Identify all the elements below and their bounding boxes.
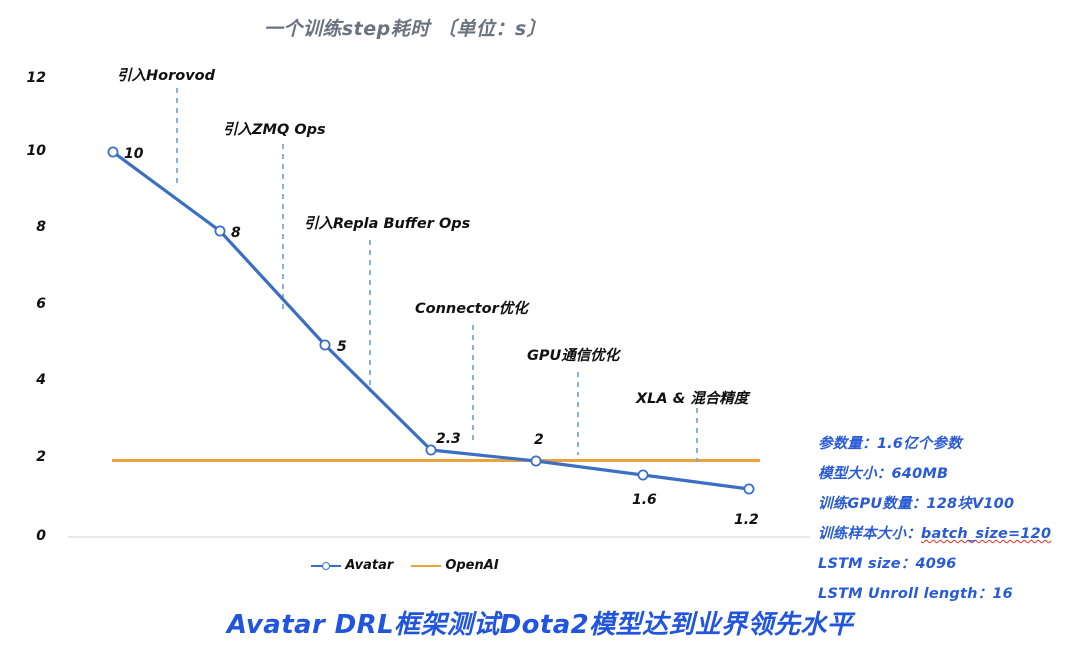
annotation-gpu-comm: GPU通信优化 (527, 344, 619, 365)
info-key-batch-size: 训练样本大小： (818, 526, 921, 542)
avatar-point-5 (638, 470, 647, 479)
annotation-connector: Connector优化 (415, 297, 528, 318)
info-line-gpu-count: 训练GPU数量：128块V100 (818, 492, 1074, 513)
info-line-batch-size: 训练样本大小：batch_size=120 (818, 522, 1074, 543)
legend-marker-openai-icon (411, 560, 441, 572)
avatar-point-4 (531, 456, 540, 465)
annotation-replay-buffer-ops: 引入Repla Buffer Ops (304, 212, 470, 233)
info-line-param-count: 参数量：1.6亿个参数 (818, 432, 1074, 453)
info-key-gpu-count: 训练GPU数量： (818, 496, 926, 512)
info-key-model-size: 模型大小： (818, 466, 892, 482)
legend-item-avatar[interactable]: Avatar (311, 558, 393, 573)
point-label-0: 10 (124, 146, 143, 162)
info-value-lstm-size: 4096 (915, 556, 956, 572)
chart-container: 一个训练step耗时 〔单位：s〕 12 10 8 6 4 2 0 10 8 5… (0, 0, 1080, 656)
avatar-point-3 (426, 445, 435, 454)
info-line-model-size: 模型大小：640MB (818, 462, 1074, 483)
annotation-horovod: 引入Horovod (117, 64, 215, 85)
info-line-lstm-unroll: LSTM Unroll length：16 (818, 582, 1074, 603)
legend-label-avatar: Avatar (345, 558, 393, 573)
model-info-panel: 参数量：1.6亿个参数 模型大小：640MB 训练GPU数量：128块V100 … (818, 432, 1074, 612)
info-value-param-count: 1.6亿个参数 (877, 436, 962, 452)
chart-legend: Avatar OpenAI (0, 558, 810, 573)
point-label-6: 1.2 (734, 512, 759, 528)
avatar-point-2 (320, 340, 329, 349)
avatar-point-6 (744, 484, 753, 493)
point-label-3: 2.3 (436, 431, 461, 447)
point-label-5: 1.6 (632, 492, 657, 508)
annotation-xla-mixed-precision: XLA & 混合精度 (636, 387, 748, 408)
point-label-2: 5 (337, 339, 347, 355)
legend-marker-avatar-icon (311, 560, 341, 572)
avatar-point-0 (108, 147, 117, 156)
info-value-batch-size: batch_size=120 (921, 526, 1051, 542)
annotation-zmq-ops: 引入ZMQ Ops (223, 118, 326, 139)
info-value-model-size: 640MB (892, 466, 949, 482)
point-label-4: 2 (534, 432, 544, 448)
page-caption: Avatar DRL框架测试Dota2模型达到业界领先水平 (0, 604, 1080, 641)
point-label-1: 8 (231, 225, 241, 241)
info-value-gpu-count: 128块V100 (926, 496, 1014, 512)
info-value-lstm-unroll: 16 (992, 586, 1013, 602)
avatar-series-line (113, 152, 749, 489)
info-key-lstm-unroll: LSTM Unroll length： (818, 586, 992, 602)
info-key-param-count: 参数量： (818, 436, 877, 452)
info-line-lstm-size: LSTM size：4096 (818, 552, 1074, 573)
legend-label-openai: OpenAI (445, 558, 498, 573)
avatar-point-1 (215, 226, 224, 235)
legend-item-openai[interactable]: OpenAI (411, 558, 498, 573)
info-key-lstm-size: LSTM size： (818, 556, 915, 572)
